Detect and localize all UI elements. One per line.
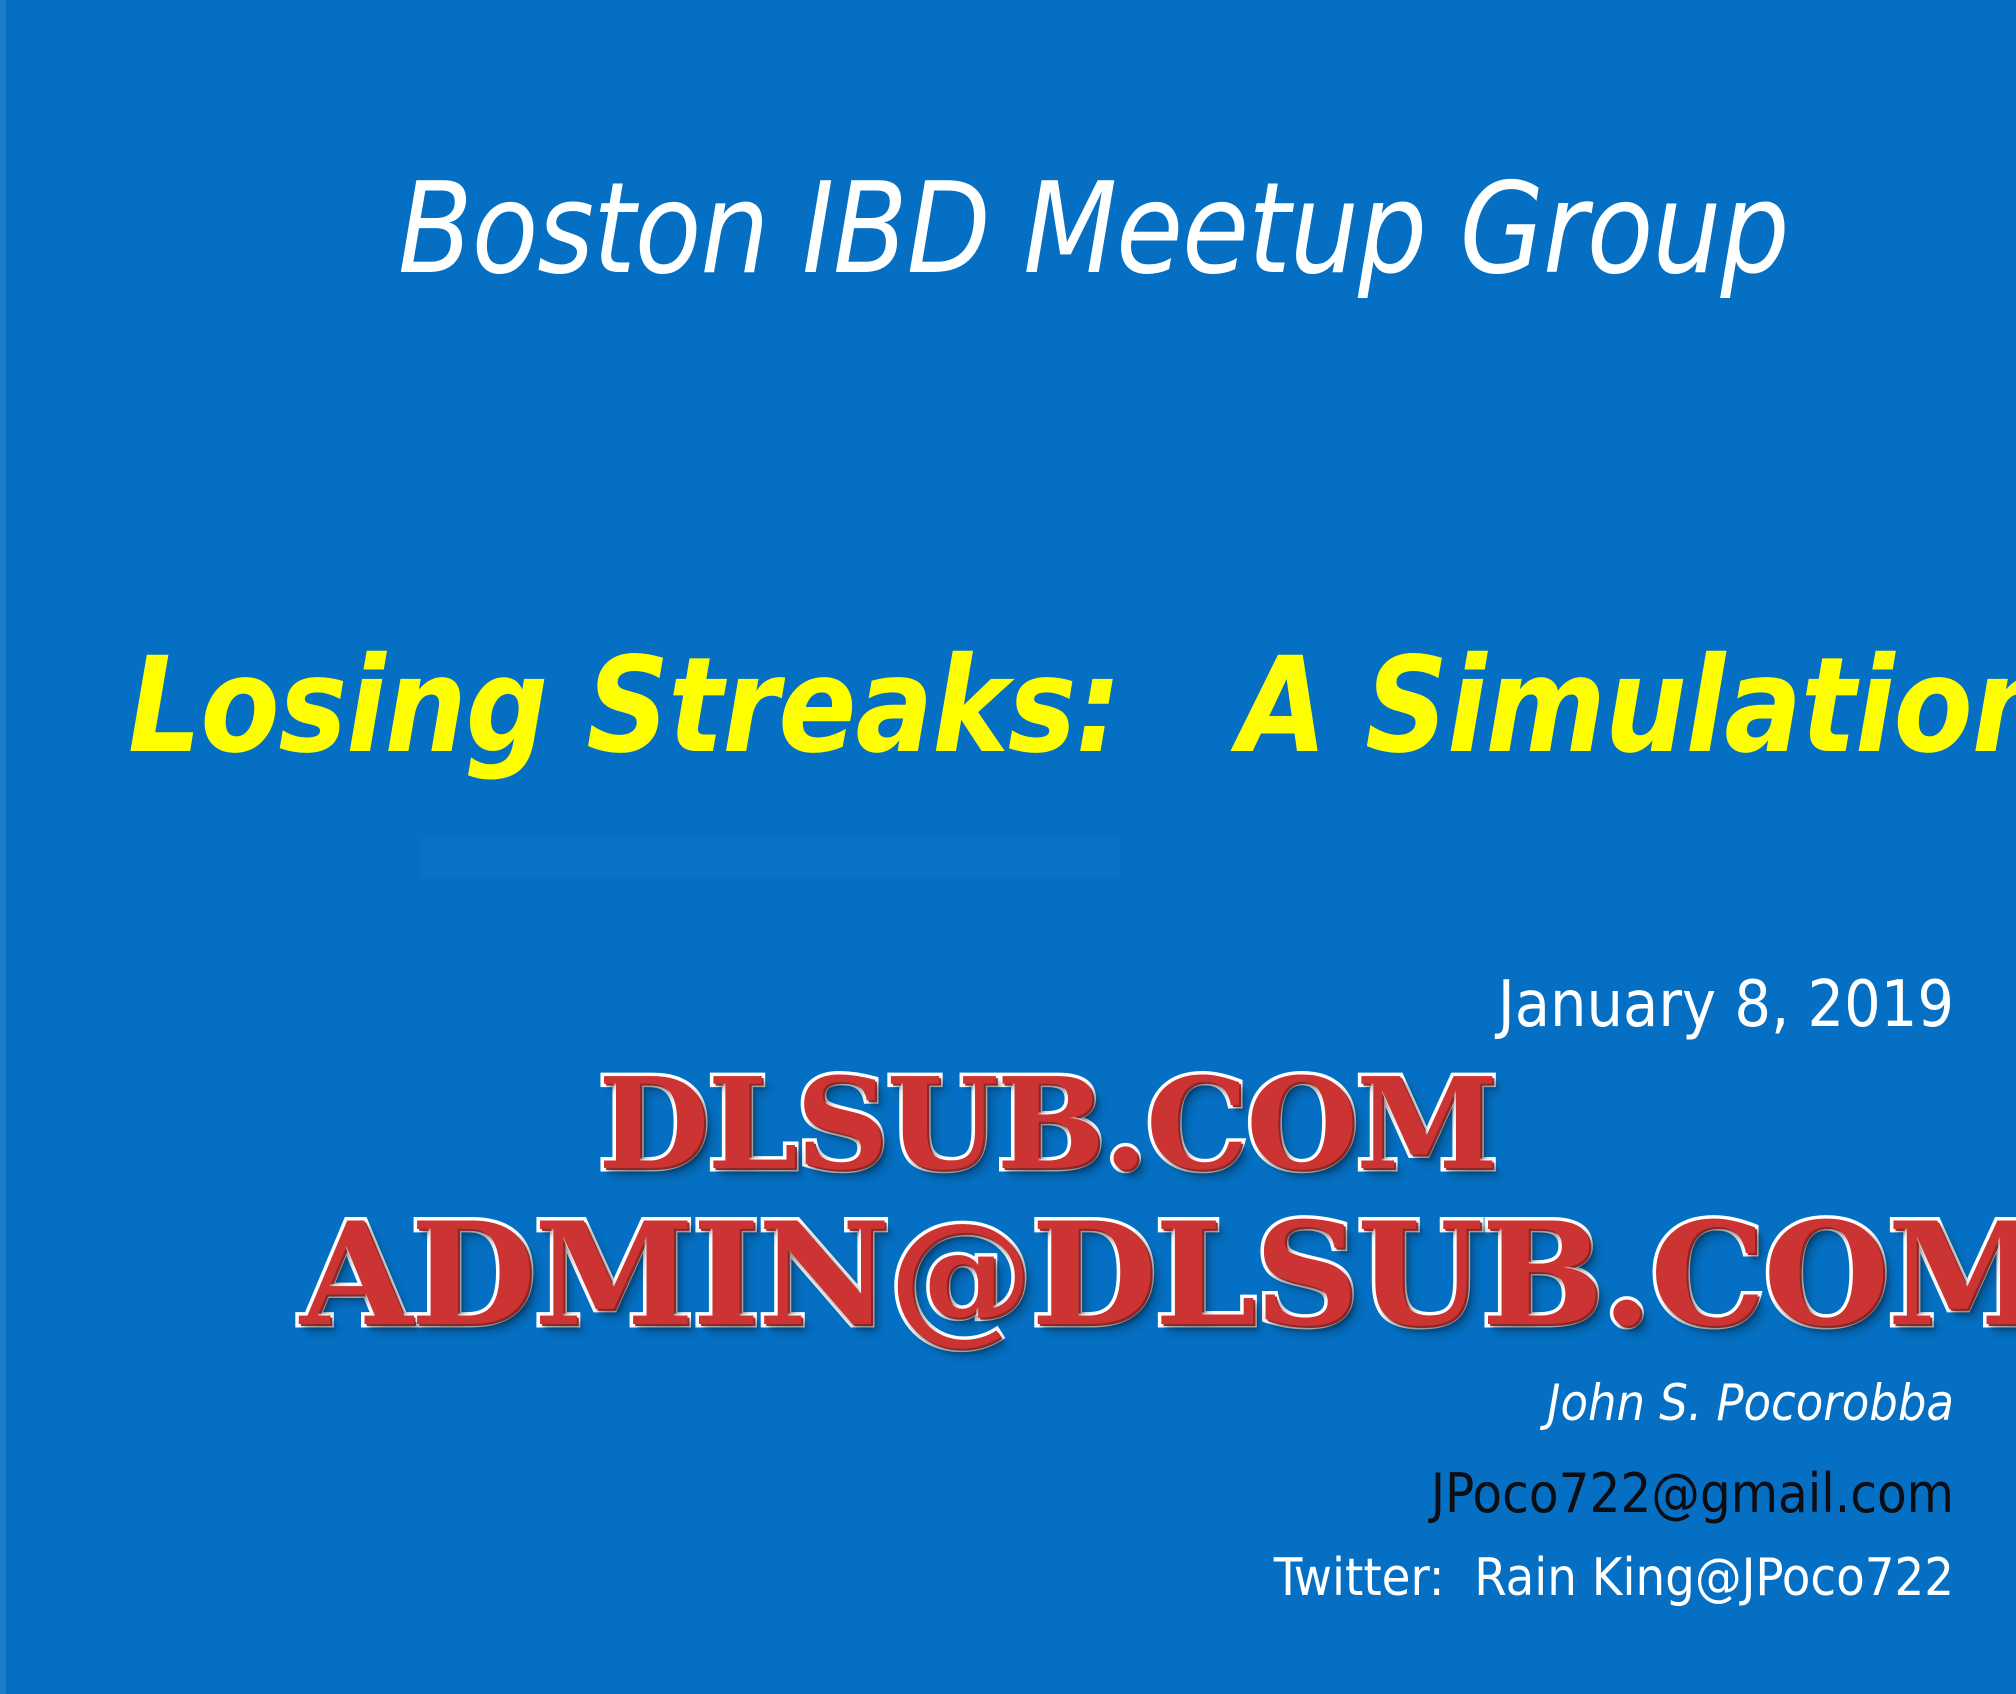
presentation-date: January 8, 2019 xyxy=(1498,968,1954,1042)
left-edge-strip xyxy=(0,0,6,1694)
presentation-slide: Boston IBD Meetup Group Losing Streaks: … xyxy=(0,0,2016,1694)
slide-headline: Losing Streaks: A Simulation xyxy=(128,634,2016,779)
author-name: John S. Pocorobba xyxy=(1547,1374,1954,1432)
author-email: JPoco722@gmail.com xyxy=(1431,1462,1954,1525)
organization-title: Boston IBD Meetup Group xyxy=(398,160,1789,299)
author-twitter-handle: Twitter: Rain King@JPoco722 xyxy=(1274,1548,1954,1608)
watermark-email: ADMIN@DLSUB.COM xyxy=(300,1192,2016,1358)
faint-artifact xyxy=(420,838,1120,878)
watermark-site: DLSUB.COM xyxy=(598,1050,1496,1198)
